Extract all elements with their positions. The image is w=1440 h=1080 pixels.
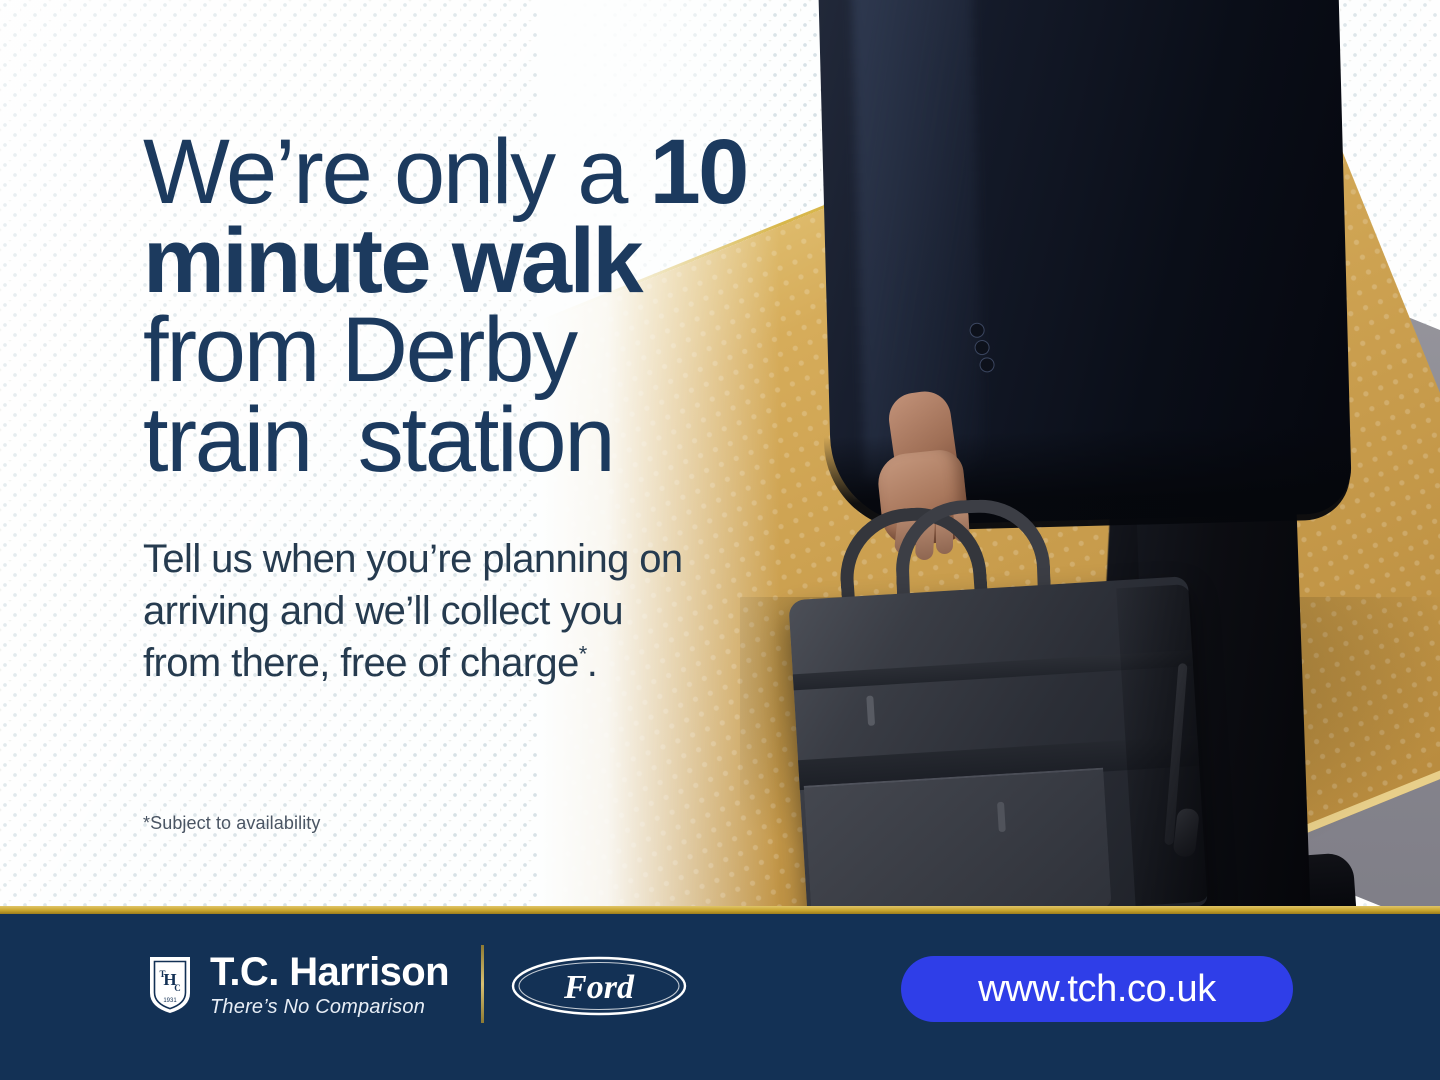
subheadline-line-1: Tell us when you’re planning on xyxy=(143,533,768,585)
disclaimer-text: *Subject to availability xyxy=(143,813,321,834)
headline-emphasis-minute-walk: minute walk xyxy=(143,210,641,312)
subheadline-line-3: from there, free of charge*. xyxy=(143,637,768,689)
briefcase-tab xyxy=(866,696,875,726)
svg-text:C: C xyxy=(174,983,181,993)
gold-divider-rule xyxy=(0,906,1440,914)
subheadline-line-3-text: from there, free of charge xyxy=(143,641,579,685)
company-tagline: There’s No Comparison xyxy=(210,997,449,1017)
website-url-label: www.tch.co.uk xyxy=(978,968,1216,1011)
subheadline-line-2: arriving and we’ll collect you xyxy=(143,585,768,637)
vertical-divider-icon xyxy=(481,945,484,1023)
briefcase-front-pocket xyxy=(804,768,1112,917)
advert-canvas: We’re only a 10 minute walk from Derby t… xyxy=(0,0,1440,1080)
headline-emphasis-10: 10 xyxy=(650,121,747,223)
svg-text:T: T xyxy=(159,969,165,979)
headline-line-4: train station xyxy=(143,396,863,485)
footnote-marker: * xyxy=(579,642,587,667)
svg-text:Ford: Ford xyxy=(563,969,635,1006)
headline-line-1-plain: We’re only a xyxy=(143,121,650,223)
company-name: T.C. Harrison xyxy=(210,952,449,992)
headline-line-2: minute walk xyxy=(143,217,863,306)
page-title: We’re only a 10 minute walk from Derby t… xyxy=(143,128,863,485)
copy-block: We’re only a 10 minute walk from Derby t… xyxy=(143,128,863,689)
subheadline: Tell us when you’re planning on arriving… xyxy=(143,533,768,689)
tch-shield-icon: H T C 1931 xyxy=(148,955,192,1015)
brand-lockup: H T C 1931 T.C. Harrison There’s No Comp… xyxy=(148,952,449,1017)
subheadline-period: . xyxy=(587,641,598,685)
website-url-button[interactable]: www.tch.co.uk xyxy=(901,956,1293,1022)
svg-text:1931: 1931 xyxy=(163,998,177,1004)
tch-wordmark: T.C. Harrison There’s No Comparison xyxy=(210,952,449,1017)
headline-line-3: from Derby xyxy=(143,306,863,395)
headline-line-1: We’re only a 10 xyxy=(143,128,863,217)
